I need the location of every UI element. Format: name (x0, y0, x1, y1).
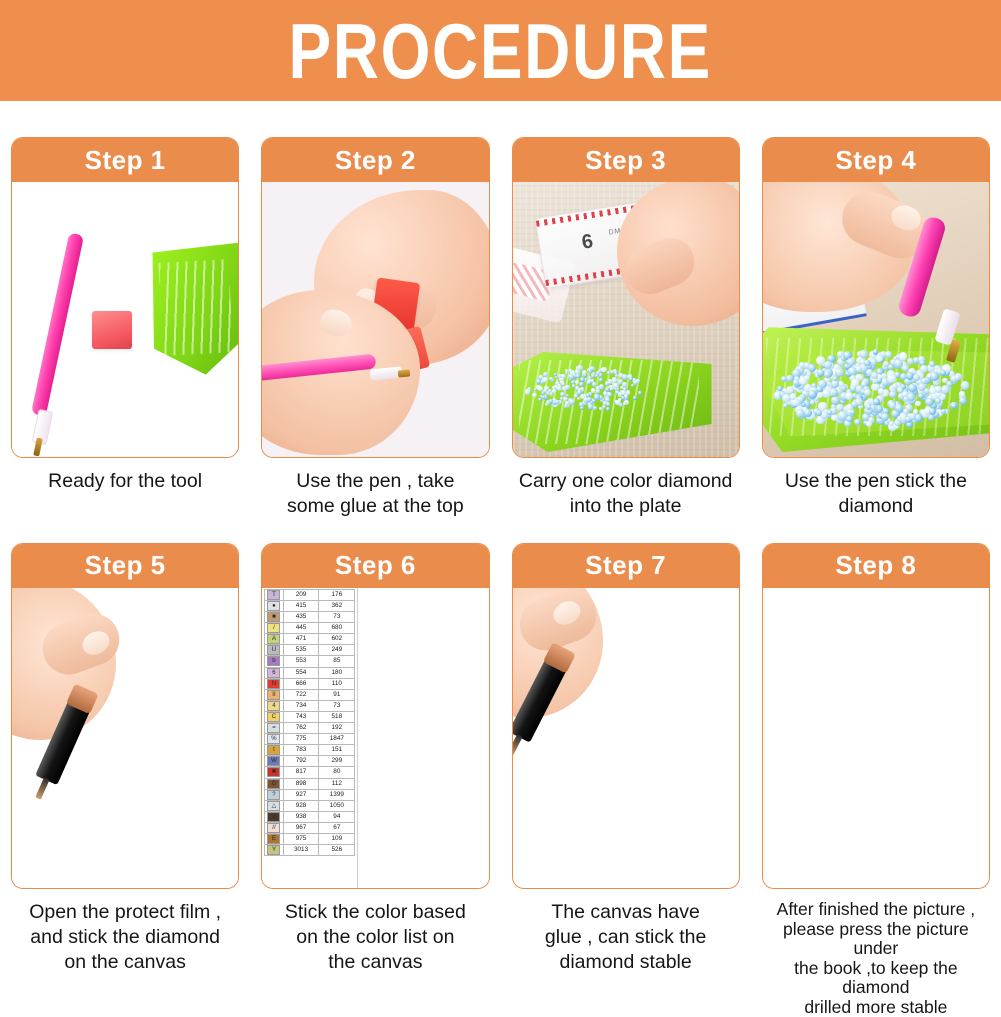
step-header-4: Step 4 (763, 138, 989, 182)
pink-glue-square (92, 311, 132, 349)
legend-row: =762192 (265, 723, 355, 734)
scene-pour-diamonds: 6 DMC (513, 182, 739, 457)
legend-color-code: 553 (283, 656, 319, 667)
caption-line: on the color list on (263, 925, 487, 950)
legend-row: ✖81780 (265, 767, 355, 778)
legend-color-code: 967 (283, 822, 319, 833)
legend-color-code: 535 (283, 645, 319, 656)
legend-count: 94 (319, 811, 355, 822)
legend-row: ?9271399 (265, 789, 355, 800)
legend-color-chip: % (267, 734, 280, 744)
step-header-1: Step 1 (12, 138, 238, 182)
scene-pen-picking-diamonds (763, 182, 989, 457)
step-cell-3: Step 3 6 DMC (501, 101, 751, 519)
step-header-label-7: Step 7 (585, 550, 666, 581)
legend-count: 1399 (319, 789, 355, 800)
caption-line: After finished the picture , (764, 900, 988, 920)
legend-count: 526 (319, 845, 355, 856)
legend-color-chip: / (267, 623, 280, 633)
legend-color-chip: △ (267, 801, 280, 811)
step-cell-8: Step 8 After finished the picture , plea… (751, 519, 1001, 1017)
legend-count: 180 (319, 667, 355, 678)
caption-line: The canvas have (514, 900, 738, 925)
step-card-3[interactable]: Step 3 6 DMC (512, 137, 740, 458)
diamond-mosaic-canvas (358, 588, 488, 888)
legend-color-chip: T (267, 590, 280, 600)
caption-line: the canvas (263, 950, 487, 975)
step-header-7: Step 7 (513, 544, 739, 588)
legend-row: t783151 (265, 745, 355, 756)
legend-color-chip: ✖ (267, 767, 280, 777)
step-cell-1: Step 1 Ready for the tool (0, 101, 250, 519)
step-header-label-3: Step 3 (585, 145, 666, 176)
step-header-6: Step 6 (262, 544, 488, 588)
caption-line: Stick the color based (263, 900, 487, 925)
step-image-3: 6 DMC (513, 182, 739, 457)
step-cell-6: Step 6 T209176●415362■43573/445680A47160… (250, 519, 500, 1017)
legend-color-code: 435 (283, 612, 319, 623)
legend-color-chip: N (267, 679, 280, 689)
legend-row: 193894 (265, 811, 355, 822)
legend-symbol: ✖ (265, 767, 283, 778)
legend-row: /445680 (265, 623, 355, 634)
legend-color-chip: b (267, 656, 280, 666)
legend-color-chip: II (267, 690, 280, 700)
caption-line: the book ,to keep the diamond (764, 959, 988, 998)
step-cell-7: Step 7 The canvas have glue (501, 519, 751, 1017)
step-cell-2: Step 2 (250, 101, 500, 519)
caption-line: Use the pen , take (263, 469, 487, 494)
legend-color-code: 938 (283, 811, 319, 822)
legend-color-chip: = (267, 723, 280, 733)
step-caption-4: Use the pen stick the diamond (762, 469, 990, 519)
legend-color-chip: 4 (267, 701, 280, 711)
legend-count: 80 (319, 767, 355, 778)
legend-color-chip: U (267, 645, 280, 655)
legend-color-code: 734 (283, 700, 319, 711)
legend-symbol: C (265, 711, 283, 722)
legend-color-code: 792 (283, 756, 319, 767)
step-caption-6: Stick the color based on the color list … (261, 900, 489, 975)
legend-color-chip: ■ (267, 612, 280, 622)
caption-line: please press the picture under (764, 920, 988, 959)
legend-symbol: 1 (265, 811, 283, 822)
legend-table: T209176●415362■43573/445680A471602U53524… (264, 589, 355, 856)
step-image-8 (763, 588, 989, 888)
step-image-7 (513, 588, 739, 888)
steps-grid: Step 1 Ready for the tool Step (0, 101, 1001, 1017)
step-header-label-6: Step 6 (335, 550, 416, 581)
green-tray (149, 243, 239, 378)
step-header-label-1: Step 1 (85, 145, 166, 176)
legend-row: A471602 (265, 634, 355, 645)
legend-row: 473473 (265, 700, 355, 711)
legend-color-code: 209 (283, 589, 319, 600)
step-card-5[interactable]: Step 5 (11, 543, 239, 889)
legend-color-code: 775 (283, 734, 319, 745)
legend-symbol: % (265, 734, 283, 745)
caption-line: on the canvas (13, 950, 237, 975)
legend-row: II72291 (265, 689, 355, 700)
legend-color-chip: 1 (267, 812, 280, 822)
step-cell-4: Step 4 (751, 101, 1001, 519)
step-caption-3: Carry one color diamond into the plate (512, 469, 740, 519)
step-caption-5: Open the protect film , and stick the di… (11, 900, 239, 975)
step-image-5 (12, 588, 238, 888)
legend-symbol: T (265, 589, 283, 600)
legend-symbol: ■ (265, 612, 283, 623)
legend-color-code: 415 (283, 601, 319, 612)
legend-symbol: 6 (265, 667, 283, 678)
pink-drill-pen (31, 232, 84, 416)
legend-symbol: Y (265, 845, 283, 856)
step-caption-7: The canvas have glue , can stick the dia… (512, 900, 740, 975)
legend-color-code: 3013 (283, 845, 319, 856)
step-image-4 (763, 182, 989, 457)
legend-symbol: A (265, 634, 283, 645)
legend-count: 176 (319, 589, 355, 600)
legend-color-code: 762 (283, 723, 319, 734)
legend-row: 6554180 (265, 667, 355, 678)
legend-row: N666110 (265, 678, 355, 689)
legend-color-code: 445 (283, 623, 319, 634)
pen-metal-tip (398, 369, 411, 377)
scene-tools-on-white (12, 182, 238, 457)
legend-symbol: t (265, 745, 283, 756)
legend-symbol: E (265, 833, 283, 844)
step-caption-8: After finished the picture , please pres… (762, 900, 990, 1017)
steps-row-2: Step 5 Open the protect film , (0, 519, 1001, 1017)
legend-row: //96767 (265, 822, 355, 833)
step-header-label-8: Step 8 (835, 550, 916, 581)
legend-count: 1050 (319, 800, 355, 811)
legend-row: T209176 (265, 589, 355, 600)
caption-line: and stick the diamond (13, 925, 237, 950)
legend-row: E975109 (265, 833, 355, 844)
step-card-8[interactable]: Step 8 (762, 543, 990, 889)
legend-color-chip: t (267, 745, 280, 755)
step-card-6[interactable]: Step 6 T209176●415362■43573/445680A47160… (261, 543, 489, 889)
legend-symbol: △ (265, 800, 283, 811)
legend-color-code: 743 (283, 711, 319, 722)
legend-color-code: 975 (283, 833, 319, 844)
legend-row: b55385 (265, 656, 355, 667)
legend-symbol: II (265, 689, 283, 700)
legend-row: Y3013526 (265, 845, 355, 856)
caption-line: diamond (764, 494, 988, 519)
step-header-8: Step 8 (763, 544, 989, 588)
legend-symbol: W (265, 756, 283, 767)
legend-count: 85 (319, 656, 355, 667)
legend-symbol: G (265, 778, 283, 789)
caption-line: diamond stable (514, 950, 738, 975)
legend-color-code: 666 (283, 678, 319, 689)
legend-color-chip: E (267, 834, 280, 844)
legend-color-chip: G (267, 779, 280, 789)
caption-line: into the plate (514, 494, 738, 519)
legend-color-chip: ? (267, 790, 280, 800)
legend-symbol: ● (265, 601, 283, 612)
legend-symbol: 4 (265, 700, 283, 711)
legend-count: 109 (319, 833, 355, 844)
legend-row: △9281050 (265, 800, 355, 811)
legend-color-code: 817 (283, 767, 319, 778)
step-header-label-2: Step 2 (335, 145, 416, 176)
legend-count: 680 (319, 623, 355, 634)
legend-color-chip: // (267, 823, 280, 833)
step-image-2 (262, 182, 488, 457)
legend-color-code: 783 (283, 745, 319, 756)
legend-count: 192 (319, 723, 355, 734)
step-image-6: T209176●415362■43573/445680A471602U53524… (262, 588, 488, 888)
tray-ribs (158, 259, 233, 356)
legend-symbol: ? (265, 789, 283, 800)
legend-count: 91 (319, 689, 355, 700)
caption-line: glue , can stick the (514, 925, 738, 950)
legend-symbol: U (265, 645, 283, 656)
legend-row: W792299 (265, 756, 355, 767)
legend-row: U535249 (265, 645, 355, 656)
legend-color-code: 898 (283, 778, 319, 789)
step-caption-1: Ready for the tool (11, 469, 239, 494)
legend-count: 362 (319, 601, 355, 612)
legend-color-code: 471 (283, 634, 319, 645)
legend-color-chip: 6 (267, 668, 280, 678)
step-card-7[interactable]: Step 7 (512, 543, 740, 889)
legend-color-code: 928 (283, 800, 319, 811)
legend-row: ■43573 (265, 612, 355, 623)
legend-count: 112 (319, 778, 355, 789)
legend-symbol: // (265, 822, 283, 833)
legend-row: %7751847 (265, 734, 355, 745)
legend-symbol: N (265, 678, 283, 689)
step-header-label-5: Step 5 (85, 550, 166, 581)
step-header-3: Step 3 (513, 138, 739, 182)
scene-hands-pen-glue (262, 182, 488, 457)
page-banner: PROCEDURE (0, 0, 1001, 101)
legend-count: 73 (319, 612, 355, 623)
legend-symbol: / (265, 623, 283, 634)
legend-color-code: 554 (283, 667, 319, 678)
legend-row: ●415362 (265, 601, 355, 612)
legend-row: G898112 (265, 778, 355, 789)
step-header-label-4: Step 4 (835, 145, 916, 176)
step-caption-2: Use the pen , take some glue at the top (261, 469, 489, 519)
step-image-1 (12, 182, 238, 457)
legend-symbol: = (265, 723, 283, 734)
step-card-4[interactable]: Step 4 (762, 137, 990, 458)
legend-row: C743518 (265, 711, 355, 722)
page-title: PROCEDURE (289, 12, 712, 90)
legend-color-code: 722 (283, 689, 319, 700)
legend-count: 299 (319, 756, 355, 767)
step-header-5: Step 5 (12, 544, 238, 588)
legend-count: 1847 (319, 734, 355, 745)
legend-color-chip: W (267, 756, 280, 766)
finished-diamond-painting (763, 588, 989, 888)
step-cell-5: Step 5 Open the protect film , (0, 519, 250, 1017)
legend-color-chip: ● (267, 601, 280, 611)
caption-line: Use the pen stick the (764, 469, 988, 494)
legend-symbol: b (265, 656, 283, 667)
step-header-2: Step 2 (262, 138, 488, 182)
legend-count: 151 (319, 745, 355, 756)
legend-color-code: 927 (283, 789, 319, 800)
legend-count: 110 (319, 678, 355, 689)
step-card-1[interactable]: Step 1 (11, 137, 239, 458)
steps-row-1: Step 1 Ready for the tool Step (0, 101, 1001, 519)
caption-line: some glue at the top (263, 494, 487, 519)
bag-number-label: 6 (580, 230, 595, 254)
legend-count: 518 (319, 711, 355, 722)
color-code-table: T209176●415362■43573/445680A471602U53524… (262, 588, 358, 888)
caption-line: Open the protect film , (13, 900, 237, 925)
legend-color-chip: Y (267, 845, 280, 855)
legend-count: 73 (319, 700, 355, 711)
legend-count: 249 (319, 645, 355, 656)
legend-color-chip: A (267, 634, 280, 644)
step-card-2[interactable]: Step 2 (261, 137, 489, 458)
legend-count: 602 (319, 634, 355, 645)
legend-color-chip: C (267, 712, 280, 722)
legend-count: 67 (319, 822, 355, 833)
caption-line: Carry one color diamond (514, 469, 738, 494)
